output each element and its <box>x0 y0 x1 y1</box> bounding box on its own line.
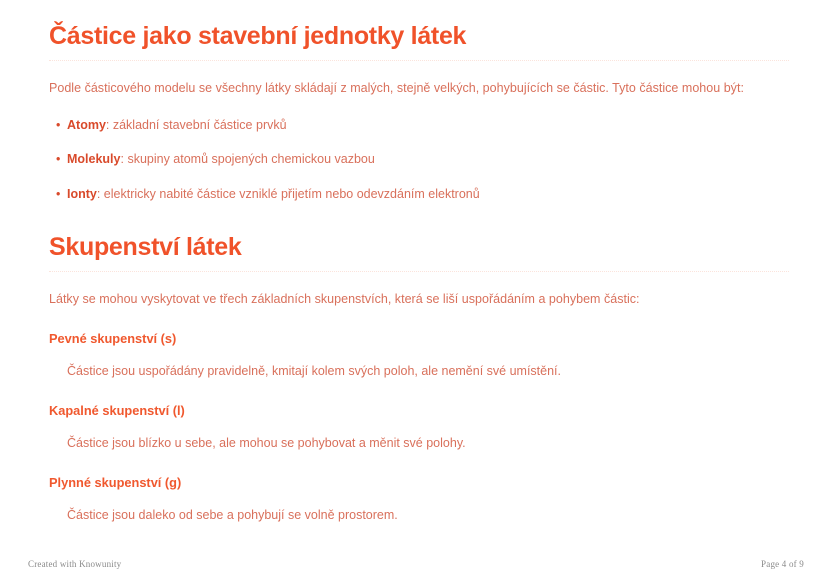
state-title: Plynné skupenství (g) <box>49 475 789 492</box>
list-item-term: Molekuly <box>67 152 121 166</box>
state-description: Částice jsou blízko u sebe, ale mohou se… <box>49 435 789 453</box>
list-item-text: : skupiny atomů spojených chemickou vazb… <box>121 152 375 166</box>
state-title: Pevné skupenství (s) <box>49 331 789 348</box>
list-item-text: : základní stavební částice prvků <box>106 118 287 132</box>
list-item: Molekuly: skupiny atomů spojených chemic… <box>49 151 789 169</box>
section-lead-particles: Podle částicového modelu se všechny látk… <box>49 79 789 98</box>
section-particles: Částice jako stavební jednotky látek Pod… <box>49 22 789 203</box>
list-item-term: Ionty <box>67 187 97 201</box>
page-content: Částice jako stavební jednotky látek Pod… <box>49 22 789 525</box>
state-block-liquid: Kapalné skupenství (l) Částice jsou blíz… <box>49 403 789 453</box>
list-item: Ionty: elektricky nabité částice vzniklé… <box>49 186 789 204</box>
footer-attribution: Created with Knowunity <box>28 559 121 569</box>
particle-types-list: Atomy: základní stavební částice prvků M… <box>49 117 789 204</box>
section-heading-particles: Částice jako stavební jednotky látek <box>49 22 789 51</box>
heading-divider <box>49 60 789 62</box>
section-lead-states: Látky se mohou vyskytovat ve třech zákla… <box>49 290 789 309</box>
state-description: Částice jsou uspořádány pravidelně, kmit… <box>49 363 789 381</box>
heading-divider <box>49 271 789 273</box>
list-item: Atomy: základní stavební částice prvků <box>49 117 789 135</box>
state-description: Částice jsou daleko od sebe a pohybují s… <box>49 507 789 525</box>
section-heading-states: Skupenství látek <box>49 233 789 262</box>
state-block-gas: Plynné skupenství (g) Částice jsou dalek… <box>49 475 789 525</box>
document-page: Částice jako stavební jednotky látek Pod… <box>0 0 828 586</box>
footer-page-number: Page 4 of 9 <box>761 559 804 569</box>
state-block-solid: Pevné skupenství (s) Částice jsou uspořá… <box>49 331 789 381</box>
list-item-text: : elektricky nabité částice vzniklé přij… <box>97 187 480 201</box>
section-states: Skupenství látek Látky se mohou vyskytov… <box>49 233 789 525</box>
state-title: Kapalné skupenství (l) <box>49 403 789 420</box>
list-item-term: Atomy <box>67 118 106 132</box>
